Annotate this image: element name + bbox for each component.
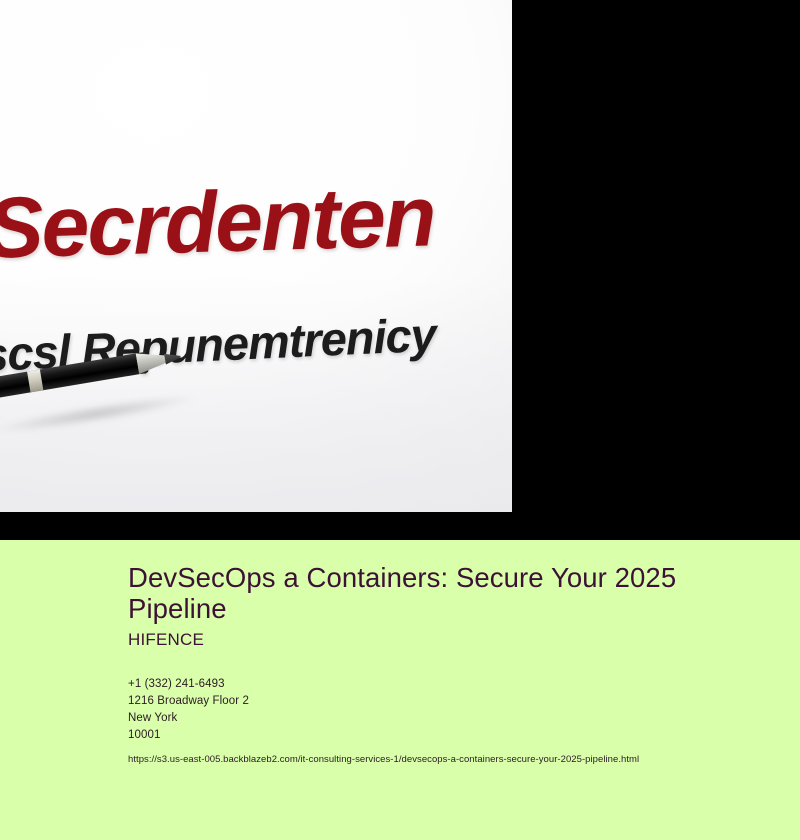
contact-zip: 10001 bbox=[128, 727, 780, 744]
contact-phone: +1 (332) 241-6493 bbox=[128, 676, 780, 693]
page-title: DevSecOps a Containers: Secure Your 2025… bbox=[128, 562, 780, 624]
contact-block: +1 (332) 241-6493 1216 Broadway Floor 2 … bbox=[128, 676, 780, 744]
source-url[interactable]: https://s3.us-east-005.backblazeb2.com/i… bbox=[128, 753, 780, 767]
info-panel: DevSecOps a Containers: Secure Your 2025… bbox=[0, 540, 800, 840]
photo-headline-text: Secrdenten bbox=[0, 170, 512, 272]
contact-city: New York bbox=[128, 710, 780, 727]
brand-name: HIFENCE bbox=[128, 630, 780, 650]
pen-nib bbox=[164, 351, 182, 364]
contact-street: 1216 Broadway Floor 2 bbox=[128, 693, 780, 710]
paper-with-pen-photo: Secrdenten scsl Repunemtrenicy bbox=[0, 0, 512, 512]
hero-media-band: Secrdenten scsl Repunemtrenicy bbox=[0, 0, 800, 540]
